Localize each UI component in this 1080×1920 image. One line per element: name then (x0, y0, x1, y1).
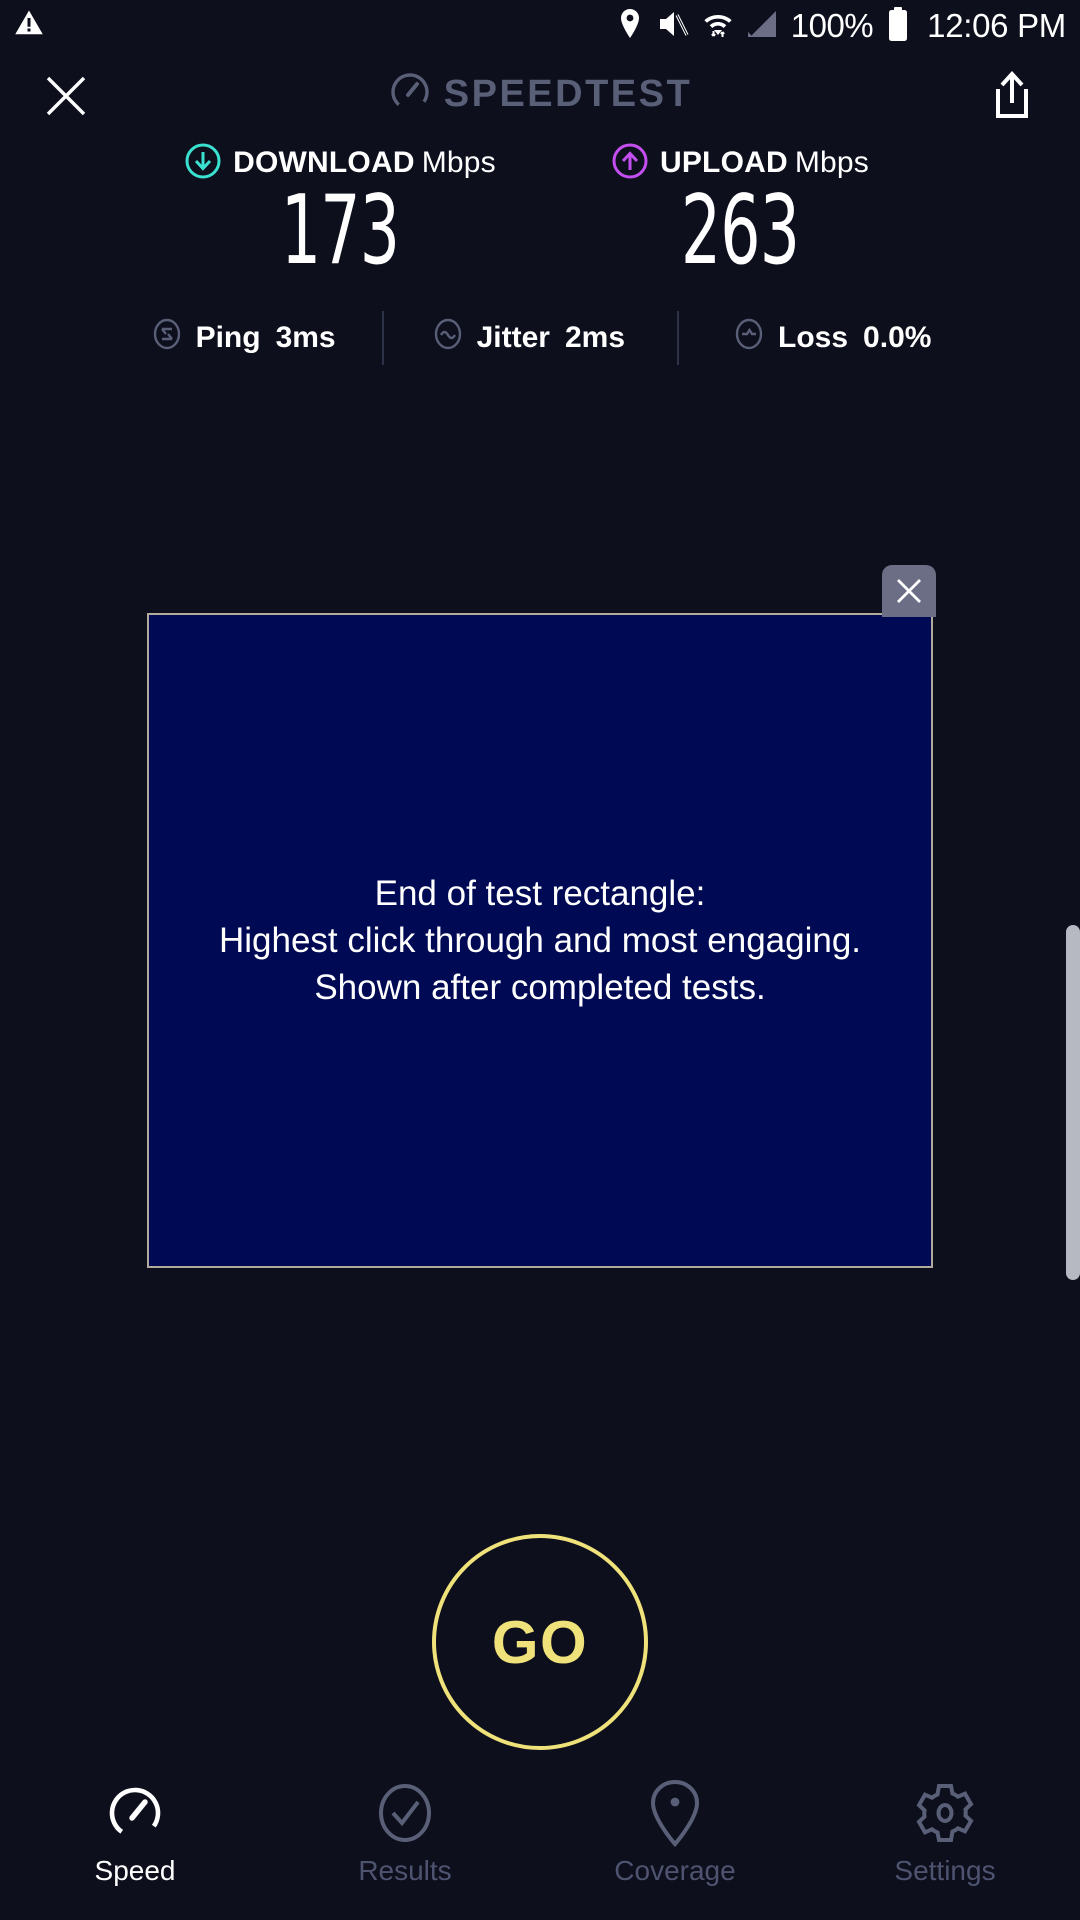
upload-value: 263 (681, 182, 799, 282)
speedometer-icon (388, 70, 432, 119)
jitter-value: 2ms (565, 321, 625, 355)
check-circle-icon (374, 1782, 436, 1844)
ping-jitter-loss-row: Ping 3ms Jitter 2ms (0, 308, 1080, 368)
download-arrow-icon (184, 142, 222, 185)
cell-signal-icon (747, 10, 777, 43)
ping-icon (149, 316, 185, 360)
ad-close-button[interactable] (882, 565, 936, 617)
ad-line: End of test rectangle: (219, 870, 861, 917)
download-value: 173 (281, 182, 399, 282)
wifi-icon (703, 8, 733, 45)
nav-item-coverage[interactable]: Coverage (540, 1770, 810, 1920)
upload-label: UPLOADMbps (660, 146, 869, 180)
speedtest-app-screen: 100% 12:06 PM SPEEDTEST (0, 0, 1080, 1920)
loss-icon (731, 316, 767, 360)
nav-item-results[interactable]: Results (270, 1770, 540, 1920)
status-bar: 100% 12:06 PM (0, 0, 1080, 52)
loss-value: 0.0% (863, 321, 931, 355)
loss-stat: Loss 0.0% (731, 316, 931, 360)
speedometer-icon (104, 1782, 166, 1844)
go-button-label: GO (492, 1608, 588, 1677)
nav-label-coverage: Coverage (614, 1855, 735, 1887)
battery-percent-label: 100% (791, 0, 873, 52)
scrollbar-thumb[interactable] (1066, 925, 1080, 1280)
ping-stat: Ping 3ms (149, 316, 336, 360)
download-metric: DOWNLOADMbps 173 (145, 140, 535, 282)
ping-value: 3ms (276, 321, 336, 355)
vertical-scrollbar[interactable] (1066, 925, 1080, 1280)
mute-icon (657, 9, 689, 44)
ad-text: End of test rectangle: Highest click thr… (205, 870, 875, 1012)
ping-label: Ping (196, 321, 261, 355)
download-label: DOWNLOADMbps (233, 146, 496, 180)
jitter-icon (430, 316, 466, 360)
loss-label: Loss (778, 321, 848, 355)
bottom-navigation: Speed Results Coverage (0, 1770, 1080, 1920)
share-icon[interactable] (984, 68, 1040, 124)
ad-line: Highest click through and most engaging. (219, 917, 861, 964)
nav-item-settings[interactable]: Settings (810, 1770, 1080, 1920)
location-pin-icon (617, 8, 643, 45)
page-title: SPEEDTEST (444, 73, 692, 116)
nav-label-speed: Speed (95, 1855, 176, 1887)
jitter-stat: Jitter 2ms (430, 316, 625, 360)
results-panel: DOWNLOADMbps 173 UPLOADMbps 263 (0, 140, 1080, 350)
advertisement-banner[interactable]: End of test rectangle: Highest click thr… (147, 613, 933, 1268)
download-upload-row: DOWNLOADMbps 173 UPLOADMbps 263 (0, 140, 1080, 282)
status-icons-group: 100% 12:06 PM (617, 0, 1066, 52)
warning-triangle-icon (14, 8, 44, 43)
nav-label-results: Results (358, 1855, 451, 1887)
divider (382, 311, 384, 365)
battery-full-icon (887, 7, 909, 46)
jitter-label: Jitter (477, 321, 550, 355)
gear-icon (913, 1782, 977, 1844)
nav-label-settings: Settings (894, 1855, 995, 1887)
divider (677, 311, 679, 365)
upload-arrow-icon (611, 142, 649, 185)
location-pin-icon (648, 1782, 702, 1844)
nav-item-speed[interactable]: Speed (0, 1770, 270, 1920)
upload-metric: UPLOADMbps 263 (545, 140, 935, 282)
ad-line: Shown after completed tests. (219, 964, 861, 1011)
app-title-group: SPEEDTEST (0, 52, 1080, 137)
go-button[interactable]: GO (432, 1534, 648, 1750)
app-header: SPEEDTEST (0, 52, 1080, 137)
clock-label: 12:06 PM (927, 0, 1066, 52)
